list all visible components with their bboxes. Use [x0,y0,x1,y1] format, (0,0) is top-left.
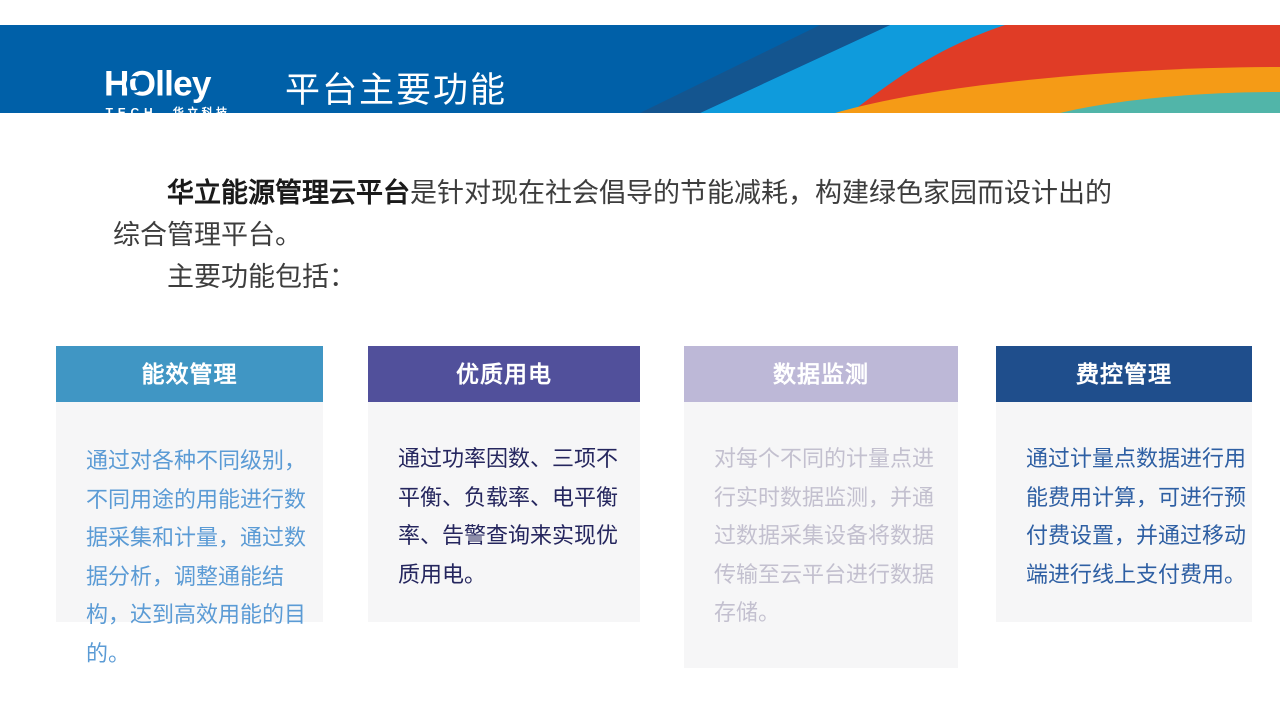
slide-header-band: HOlley TECH 华立科技 平台主要功能 [0,25,1280,113]
svg-text:HOlley: HOlley [104,65,212,104]
card-description-fee-control: 通过计量点数据进行用能费用计算，可进行预付费设置，并通过移动端进行线上支付费用。 [1026,440,1250,594]
intro-paragraph-block: 华立能源管理云平台是针对现在社会倡导的节能减耗，构建绿色家园而设计出的综合管理平… [113,172,1113,298]
card-description-energy-efficiency: 通过对各种不同级别，不同用途的用能进行数据采集和计量，通过数据分析，调整通能结构… [86,442,318,673]
page-title: 平台主要功能 [285,69,507,113]
intro-line-1: 华立能源管理云平台是针对现在社会倡导的节能减耗，构建绿色家园而设计出的综合管理平… [113,172,1113,256]
card-title-energy-efficiency: 能效管理 [56,346,323,402]
svg-text:TECH: TECH [106,105,158,113]
holley-tech-logo: HOlley TECH 华立科技 [104,65,264,113]
card-description-quality-power: 通过功率因数、三项不平衡、负载率、电平衡率、告警查询来实现优质用电。 [398,440,634,594]
card-title-fee-control: 费控管理 [996,346,1252,402]
svg-text:华立科技: 华立科技 [173,105,231,113]
intro-emphasis: 华立能源管理云平台 [167,178,410,208]
intro-line-2: 主要功能包括： [113,256,1113,298]
card-title-data-monitoring: 数据监测 [684,346,958,402]
card-description-data-monitoring: 对每个不同的计量点进行实时数据监测，并通过数据采集设备将数据传输至云平台进行数据… [714,440,952,633]
card-title-quality-power: 优质用电 [368,346,640,402]
